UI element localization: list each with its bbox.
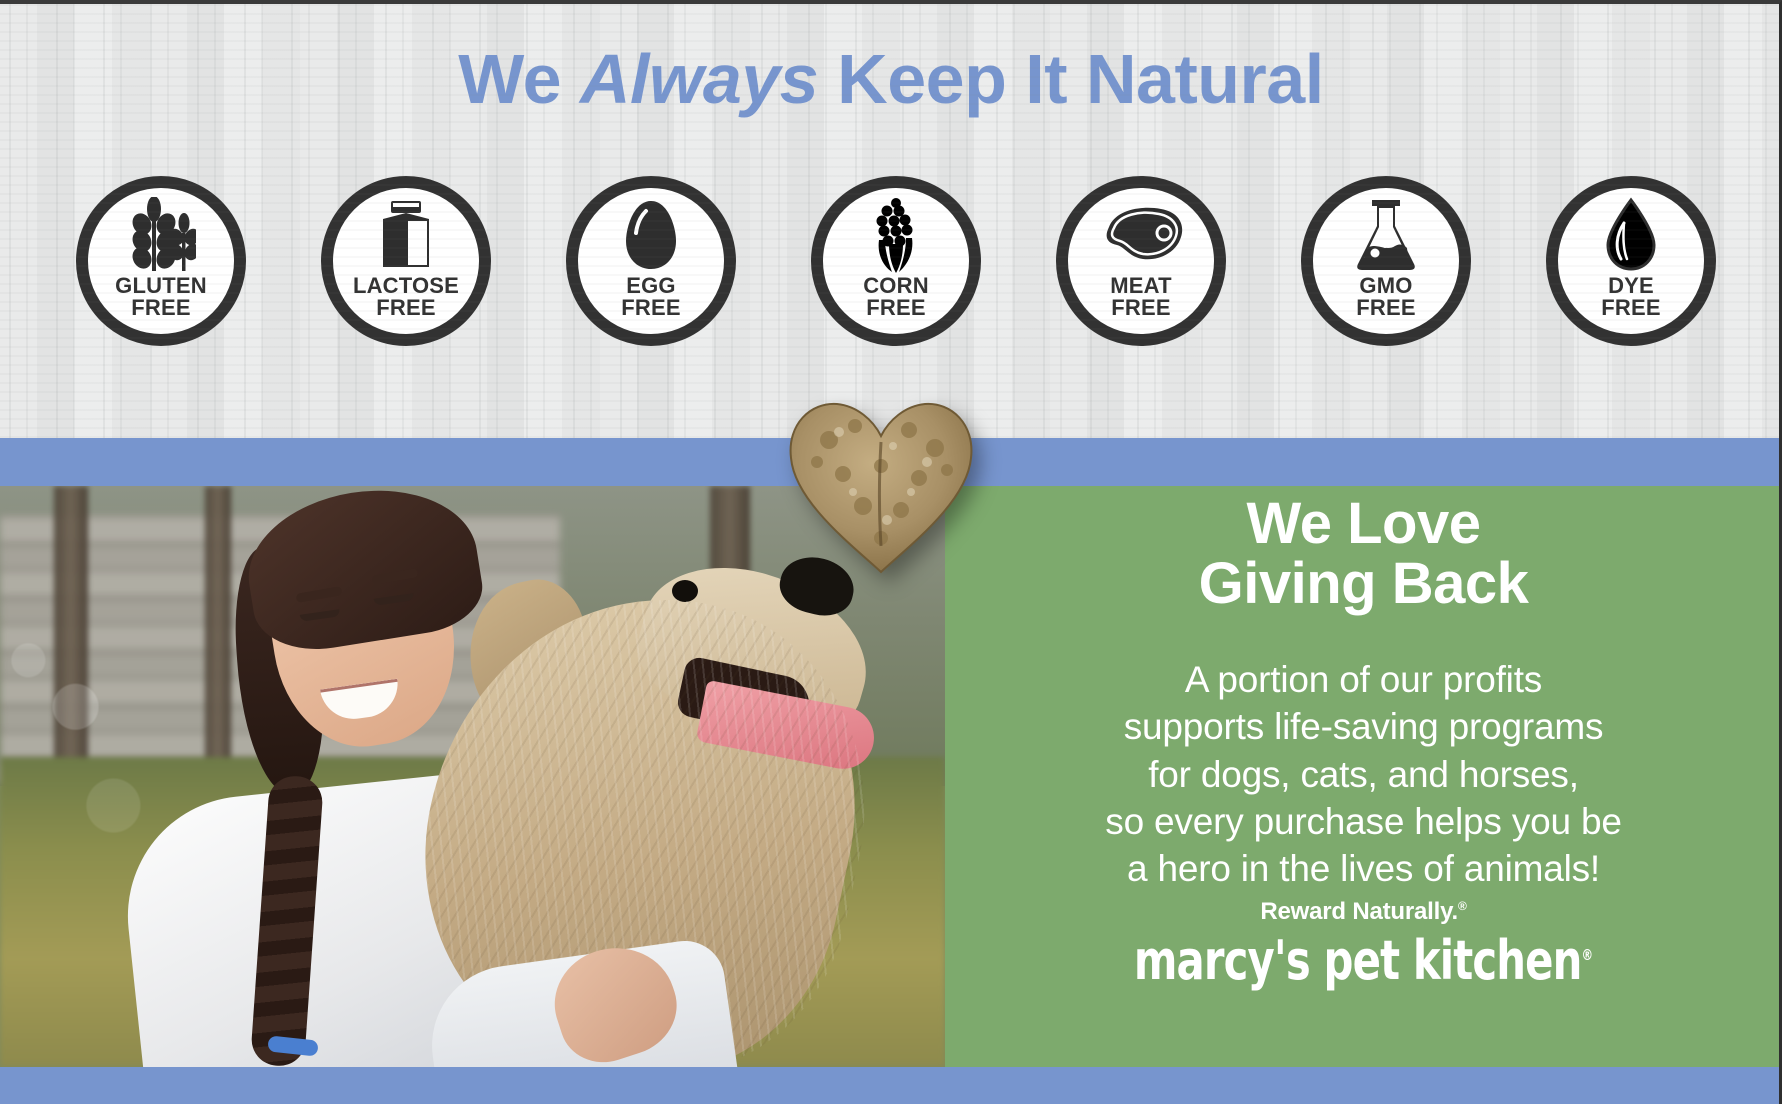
badge-label-line2: FREE [131, 295, 190, 320]
badge-label-line2: FREE [1356, 295, 1415, 320]
promo-title: We Love Giving Back [945, 464, 1782, 615]
droplet-icon [1602, 196, 1660, 274]
brand-logo-text: marcy's pet kitchen [1134, 929, 1582, 992]
milk-carton-icon [375, 196, 437, 274]
top-wood-panel: We Always Keep It Natural [0, 4, 1782, 438]
promo-body-line3: for dogs, cats, and horses, [1148, 754, 1579, 795]
flask-icon [1352, 196, 1420, 274]
badge-label-line1: GLUTEN [115, 273, 207, 298]
badge-corn-free: CORN FREE [811, 176, 981, 346]
marketing-banner: We Always Keep It Natural [0, 0, 1782, 1104]
badge-label: EGG FREE [621, 275, 680, 320]
attribute-badge-row: GLUTEN FREE LACTOS [76, 176, 1716, 346]
dog-eye [672, 580, 698, 602]
badge-lactose-free: LACTOSE FREE [321, 176, 491, 346]
promo-body-line1: A portion of our profits [1185, 659, 1542, 700]
promo-body-line4: so every purchase helps you be [1105, 801, 1621, 842]
lower-section: We Love Giving Back A portion of our pro… [0, 486, 1782, 1067]
badge-label-line2: FREE [621, 295, 680, 320]
badge-label-line2: FREE [866, 295, 925, 320]
badge-gmo-free: GMO FREE [1301, 176, 1471, 346]
corn-icon [867, 196, 925, 274]
registered-mark: ® [1582, 946, 1594, 964]
brand-logo: marcy's pet kitchen® [1004, 929, 1724, 992]
badge-label-line1: EGG [626, 273, 676, 298]
giving-back-panel: We Love Giving Back A portion of our pro… [945, 486, 1782, 1067]
badge-label-line1: LACTOSE [353, 273, 459, 298]
badge-label: GLUTEN FREE [115, 275, 207, 320]
badge-meat-free: MEAT FREE [1056, 176, 1226, 346]
badge-label: GMO FREE [1356, 275, 1415, 320]
promo-body-line5: a hero in the lives of animals! [1127, 848, 1600, 889]
badge-label: LACTOSE FREE [353, 275, 459, 320]
badge-gluten-free: GLUTEN FREE [76, 176, 246, 346]
badge-egg-free: EGG FREE [566, 176, 736, 346]
badge-label-line1: DYE [1608, 273, 1654, 298]
promo-body: A portion of our profits supports life-s… [945, 656, 1782, 893]
brand-tagline-text: Reward Naturally. [1260, 898, 1458, 925]
badge-label: MEAT FREE [1110, 275, 1172, 320]
badge-label-line1: MEAT [1110, 273, 1172, 298]
badge-label-line1: GMO [1359, 273, 1412, 298]
steak-icon [1095, 196, 1187, 274]
promo-title-line2: Giving Back [1199, 551, 1529, 616]
promo-body-line2: supports life-saving programs [1124, 706, 1604, 747]
headline-part2: Keep It Natural [818, 40, 1323, 118]
badge-label: CORN FREE [863, 275, 929, 320]
badge-label: DYE FREE [1601, 275, 1660, 320]
badge-label-line2: FREE [376, 295, 435, 320]
badge-label-line1: CORN [863, 273, 929, 298]
wheat-icon [126, 196, 196, 274]
heart-treat-icon [783, 396, 979, 574]
blue-divider-bottom [0, 1067, 1782, 1104]
headline-italic: Always [580, 40, 818, 118]
promo-title-line1: We Love [1247, 491, 1481, 556]
brand-tagline: Reward Naturally.® [945, 898, 1782, 926]
badge-dye-free: DYE FREE [1546, 176, 1716, 346]
page-title: We Always Keep It Natural [0, 44, 1782, 114]
headline-part1: We [458, 40, 580, 118]
badge-label-line2: FREE [1601, 295, 1660, 320]
registered-mark: ® [1458, 899, 1467, 913]
badge-label-line2: FREE [1111, 295, 1170, 320]
egg-icon [620, 196, 682, 274]
